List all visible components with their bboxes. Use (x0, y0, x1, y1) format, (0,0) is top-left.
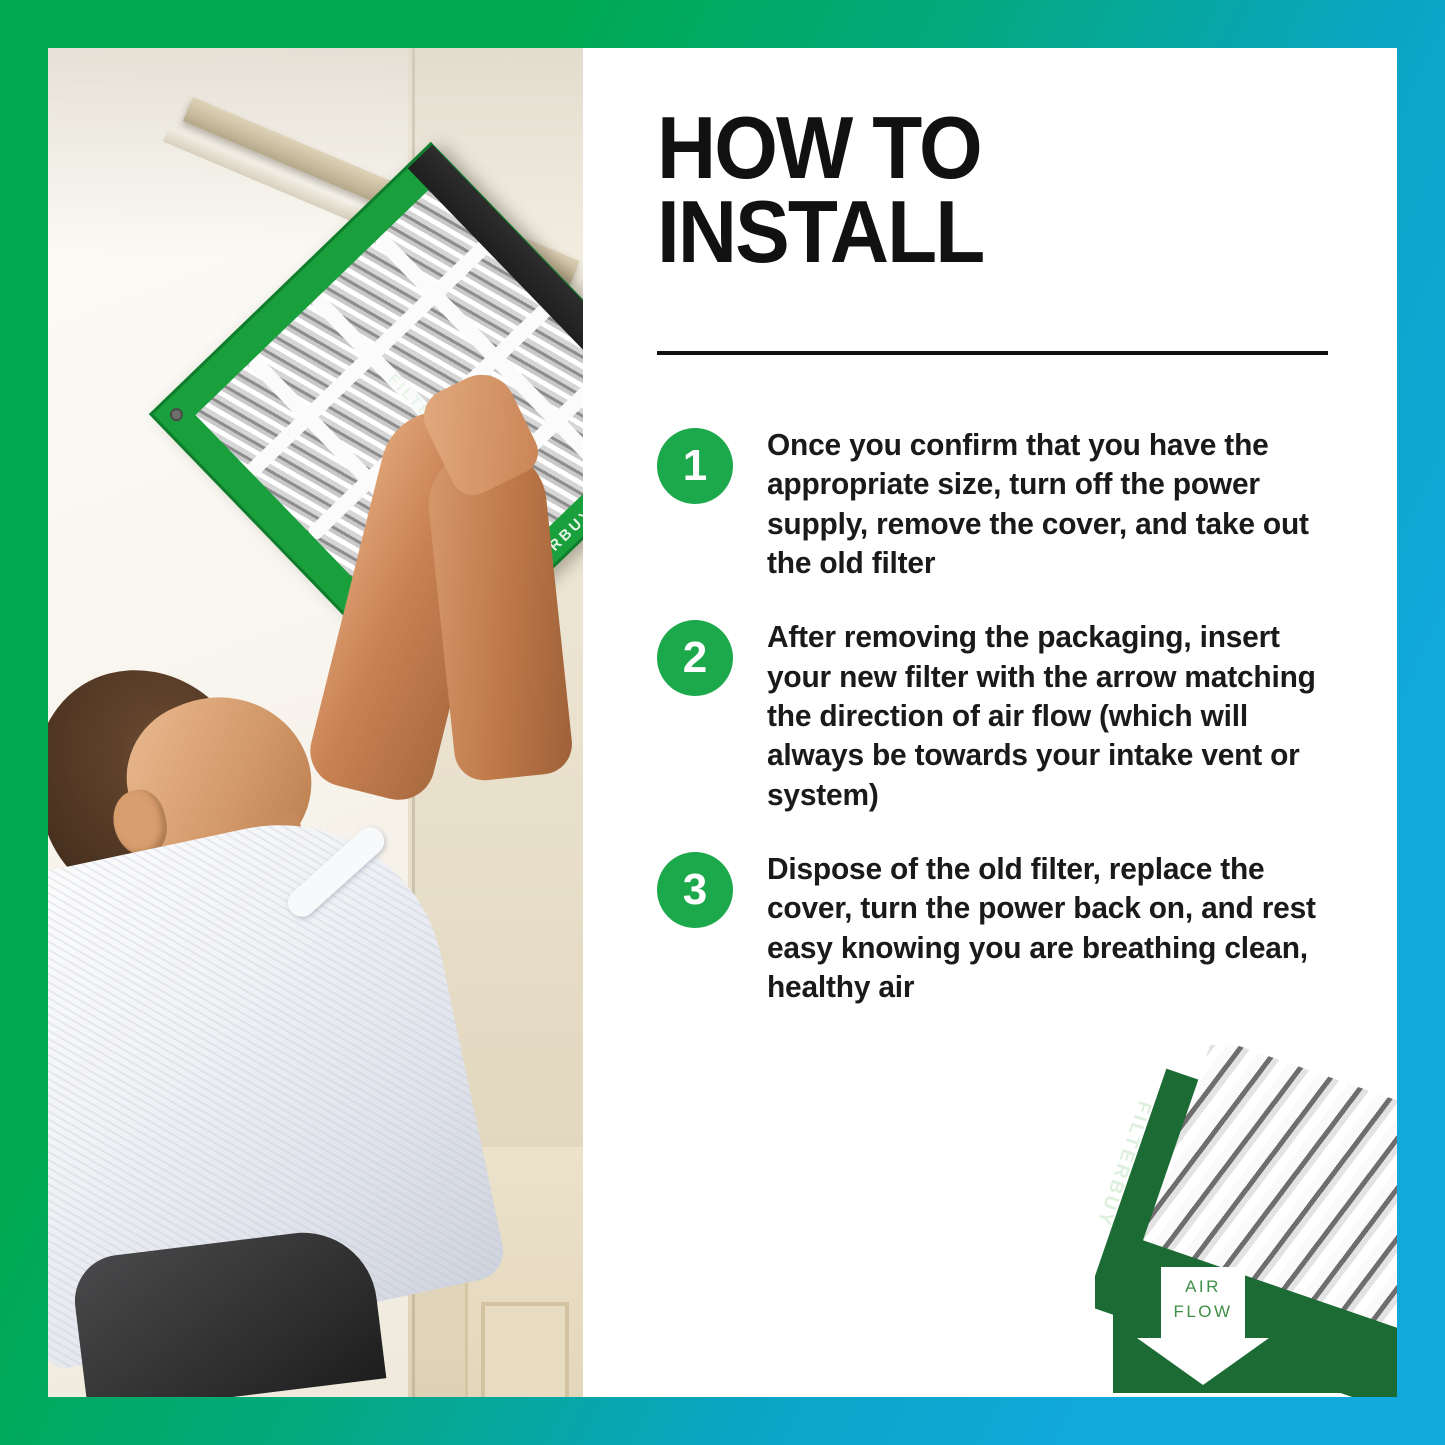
step-text-2: After removing the packaging, insert you… (767, 618, 1333, 815)
step-number-badge-1: 1 (657, 428, 733, 504)
product-top-frame (1095, 1069, 1397, 1397)
title-divider (657, 351, 1328, 355)
arrow-head (1137, 1338, 1269, 1385)
step-item-3: 3 Dispose of the old filter, replace the… (657, 850, 1347, 1007)
content-column: HOW TOINSTALL 1 Once you confirm that yo… (657, 48, 1397, 1397)
product-pleated-media (1143, 1045, 1397, 1377)
air-flow-arrow-icon: AIRFLOW (1137, 1267, 1269, 1385)
air-flow-label: AIRFLOW (1137, 1275, 1269, 1324)
step-number-badge-3: 3 (657, 852, 733, 928)
air-flow-label-line-1: AIR (1185, 1277, 1221, 1296)
step-text-3: Dispose of the old filter, replace the c… (767, 850, 1333, 1007)
product-brand-label: FILTERBUY (1095, 1098, 1155, 1230)
air-flow-label-line-2: FLOW (1173, 1302, 1232, 1321)
arrow-stem (1161, 1267, 1245, 1339)
step-item-2: 2 After removing the packaging, insert y… (657, 618, 1347, 815)
step-number-badge-2: 2 (657, 620, 733, 696)
product-filter-graphic: FILTERBUY AIRFLOW (1095, 1045, 1397, 1397)
page-title: HOW TOINSTALL (657, 106, 1299, 273)
door-inset-panel (481, 1302, 569, 1397)
step-text-1: Once you confirm that you have the appro… (767, 426, 1333, 583)
filter-corner-rivet (167, 405, 185, 423)
steps-list: 1 Once you confirm that you have the app… (657, 426, 1347, 1007)
poster-frame: FILTERBUY FILTERBUY HOW TOINSTALL (0, 0, 1445, 1445)
product-front-face (1113, 1248, 1397, 1393)
page-title-line-2: INSTALL (657, 182, 983, 281)
step-item-1: 1 Once you confirm that you have the app… (657, 426, 1347, 583)
install-photo: FILTERBUY FILTERBUY (48, 48, 583, 1397)
poster-canvas: FILTERBUY FILTERBUY HOW TOINSTALL (48, 48, 1397, 1397)
